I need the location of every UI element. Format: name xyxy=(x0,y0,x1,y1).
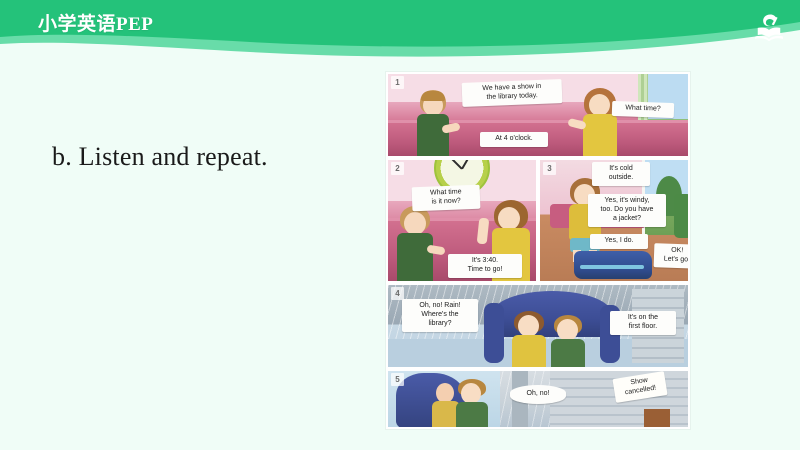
speech-bubble: Yes, I do. xyxy=(590,234,648,249)
panel-number: 3 xyxy=(543,162,556,175)
torso-shape xyxy=(583,114,617,158)
speech-bubble: It's 3:40. Time to go! xyxy=(448,254,522,278)
torso-shape xyxy=(551,339,585,369)
head-shape xyxy=(498,207,520,230)
speech-bubble: Yes, it's windy, too. Do you have a jack… xyxy=(588,194,666,227)
page-title: 小学英语PEP xyxy=(38,9,153,36)
character-girl-left xyxy=(412,90,456,158)
comic-panel-1: 1 We have a show in the library today. W… xyxy=(386,72,690,158)
jacket-sleeve-left xyxy=(484,303,504,363)
instruction-heading: b. Listen and repeat. xyxy=(52,142,268,172)
open-book-logo-icon xyxy=(751,10,787,46)
head-shape xyxy=(404,212,426,235)
panel-number: 2 xyxy=(391,162,404,175)
speech-bubble: It's on the first floor. xyxy=(610,311,676,335)
torso-shape xyxy=(397,233,433,283)
comic-panel-5: 5 Oh, no! Show cancelled! xyxy=(386,369,690,429)
torso-shape xyxy=(512,335,546,369)
character-partner-edge xyxy=(674,194,690,238)
character-kid-right xyxy=(454,379,494,429)
head-shape xyxy=(436,383,454,403)
speech-bubble: Oh, no! xyxy=(510,385,566,404)
speech-bubble: OK! Let's go. xyxy=(654,243,690,268)
slide-canvas: 小学英语PEP b. Listen and repeat. xyxy=(0,0,800,450)
comic-strip-image: 1 We have a show in the library today. W… xyxy=(386,72,690,429)
character-girl-right xyxy=(578,88,626,158)
head-shape xyxy=(461,383,481,404)
torso-shape xyxy=(456,402,488,429)
panel-number: 5 xyxy=(391,373,404,386)
character-girl-left xyxy=(394,206,442,283)
clock-hand-minute xyxy=(461,158,474,170)
speech-bubble: It's cold outside. xyxy=(592,162,650,186)
speech-bubble: What time is it now? xyxy=(412,185,481,211)
speech-bubble: We have a show in the library today. xyxy=(462,79,563,107)
speech-bubble: At 4 o'clock. xyxy=(480,132,548,147)
comic-panel-4: 4 Oh, no! Rain! Where's the library? It'… xyxy=(386,283,690,369)
torso-shape xyxy=(417,114,449,158)
arm-shape xyxy=(477,218,490,245)
head-shape xyxy=(518,315,539,337)
comic-panel-2: 2 What time is it now? It's 3:40. Time t… xyxy=(386,158,538,283)
panel-number: 4 xyxy=(391,287,404,300)
speech-bubble: Oh, no! Rain! Where's the library? xyxy=(402,299,478,332)
panel-number: 1 xyxy=(391,76,404,89)
character-kid-right xyxy=(548,315,594,369)
jacket-stripe xyxy=(580,265,644,269)
head-shape xyxy=(589,94,610,116)
fringe-shape xyxy=(421,91,445,101)
speech-bubble: What time? xyxy=(612,101,674,118)
box-object xyxy=(644,409,670,427)
head-shape xyxy=(557,319,578,341)
comic-panel-3: 3 It's cold outside. Yes, it's windy, to… xyxy=(538,158,690,283)
